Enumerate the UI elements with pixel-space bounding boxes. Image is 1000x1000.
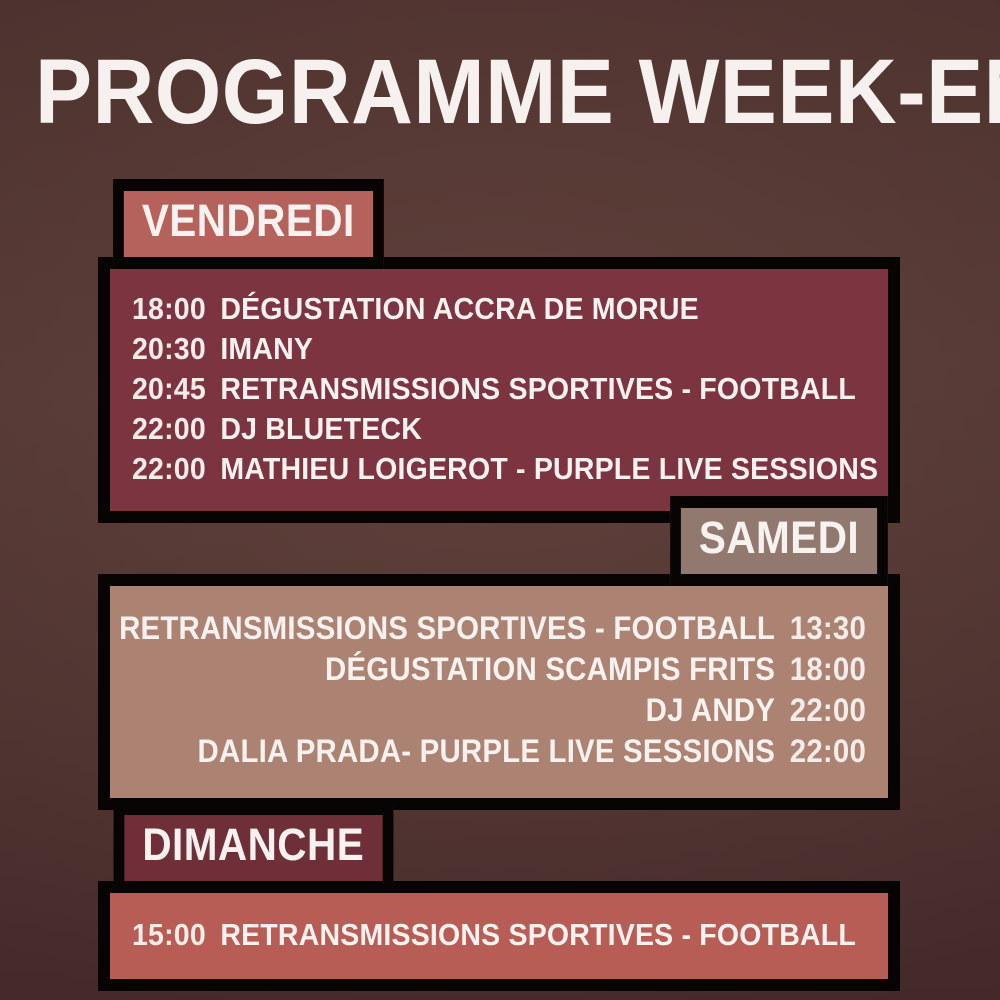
event-row: 15:00 RETRANSMISSIONS SPORTIVES - FOOTBA…	[132, 915, 807, 955]
event-name: RETRANSMISSIONS SPORTIVES - FOOTBALL	[220, 915, 856, 955]
event-row: DALIA PRADA- PURPLE LIVE SESSIONS 22:00	[191, 731, 866, 772]
day-block-vendredi: VENDREDI 18:00 DÉGUSTATION ACCRA DE MORU…	[98, 179, 900, 523]
event-name: RETRANSMISSIONS SPORTIVES - FOOTBALL	[220, 369, 856, 409]
event-name: RETRANSMISSIONS SPORTIVES - FOOTBALL	[119, 608, 775, 649]
day-events-vendredi: 18:00 DÉGUSTATION ACCRA DE MORUE 20:30 I…	[98, 257, 900, 523]
day-label-dimanche: DIMANCHE	[114, 803, 393, 893]
event-row: DJ ANDY 22:00	[191, 690, 866, 731]
day-events-samedi: RETRANSMISSIONS SPORTIVES - FOOTBALL 13:…	[98, 574, 900, 810]
event-time: 18:00	[790, 649, 866, 690]
day-events-dimanche: 15:00 RETRANSMISSIONS SPORTIVES - FOOTBA…	[98, 881, 900, 991]
day-badge-row-samedi: SAMEDI	[98, 496, 900, 586]
event-row: 22:00 MATHIEU LOIGEROT - PURPLE LIVE SES…	[132, 449, 807, 489]
event-time: 22:00	[132, 449, 220, 489]
event-name: DÉGUSTATION ACCRA DE MORUE	[220, 289, 699, 329]
day-block-dimanche: DIMANCHE 15:00 RETRANSMISSIONS SPORTIVES…	[98, 803, 900, 991]
day-badge-row-dimanche: DIMANCHE	[98, 803, 900, 893]
event-name: DALIA PRADA- PURPLE LIVE SESSIONS	[198, 731, 776, 772]
event-time: 13:30	[790, 608, 866, 649]
event-row: DÉGUSTATION SCAMPIS FRITS 18:00	[191, 649, 866, 690]
day-label-samedi: SAMEDI	[670, 496, 888, 586]
day-badge-row-vendredi: VENDREDI	[98, 179, 900, 269]
event-name: IMANY	[220, 329, 313, 369]
event-row: 18:00 DÉGUSTATION ACCRA DE MORUE	[132, 289, 807, 329]
event-name: DJ ANDY	[646, 690, 775, 731]
event-name: MATHIEU LOIGEROT - PURPLE LIVE SESSIONS	[220, 449, 878, 489]
event-time: 15:00	[132, 915, 220, 955]
event-time: 20:30	[132, 329, 220, 369]
page-title: PROGRAMME WEEK-END	[35, 44, 965, 140]
event-row: 20:45 RETRANSMISSIONS SPORTIVES - FOOTBA…	[132, 369, 807, 409]
event-row: 20:30 IMANY	[132, 329, 807, 369]
event-name: DJ BLUETECK	[220, 409, 422, 449]
poster-canvas: PROGRAMME WEEK-END VENDREDI 18:00 DÉGUST…	[0, 0, 1000, 1000]
event-row: 22:00 DJ BLUETECK	[132, 409, 807, 449]
event-name: DÉGUSTATION SCAMPIS FRITS	[325, 649, 775, 690]
day-label-vendredi: VENDREDI	[113, 179, 383, 269]
event-time: 22:00	[132, 409, 220, 449]
event-time: 22:00	[790, 690, 866, 731]
event-time: 20:45	[132, 369, 220, 409]
event-row: RETRANSMISSIONS SPORTIVES - FOOTBALL 13:…	[191, 608, 866, 649]
day-block-samedi: SAMEDI RETRANSMISSIONS SPORTIVES - FOOTB…	[98, 496, 900, 810]
event-time: 18:00	[132, 289, 220, 329]
event-time: 22:00	[790, 731, 866, 772]
